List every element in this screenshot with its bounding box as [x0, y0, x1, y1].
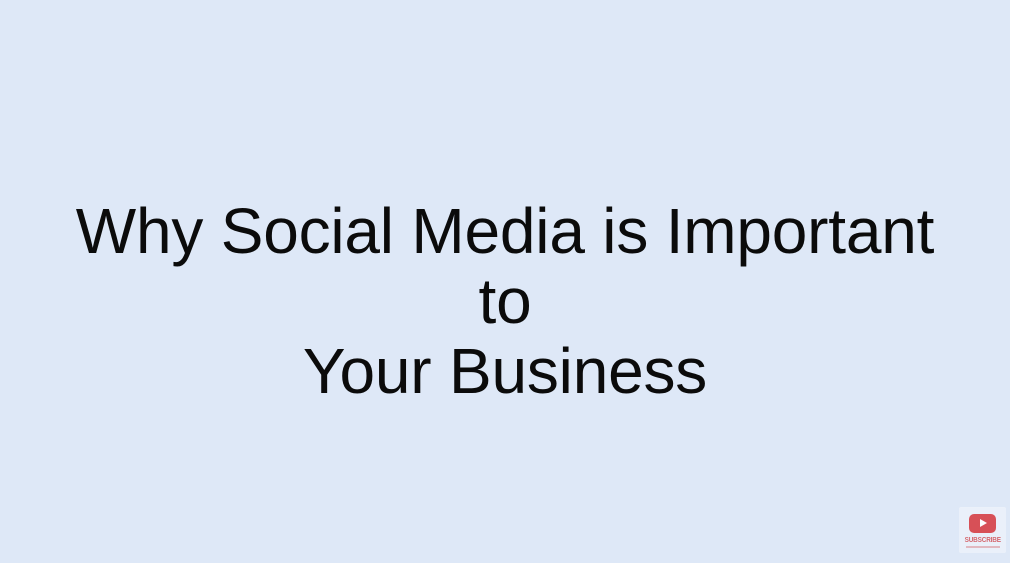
presentation-slide: Why Social Media is Important to Your Bu… — [0, 0, 1010, 563]
youtube-play-icon — [969, 514, 996, 533]
title-block: Why Social Media is Important to Your Bu… — [0, 0, 1010, 563]
subscribe-label: SUBSCRIBE — [964, 537, 1000, 545]
youtube-subscribe-watermark[interactable]: SUBSCRIBE — [959, 507, 1006, 553]
play-triangle-icon — [980, 519, 987, 527]
subscribe-underline — [966, 546, 1000, 548]
page-title: Why Social Media is Important to Your Bu… — [55, 196, 955, 406]
